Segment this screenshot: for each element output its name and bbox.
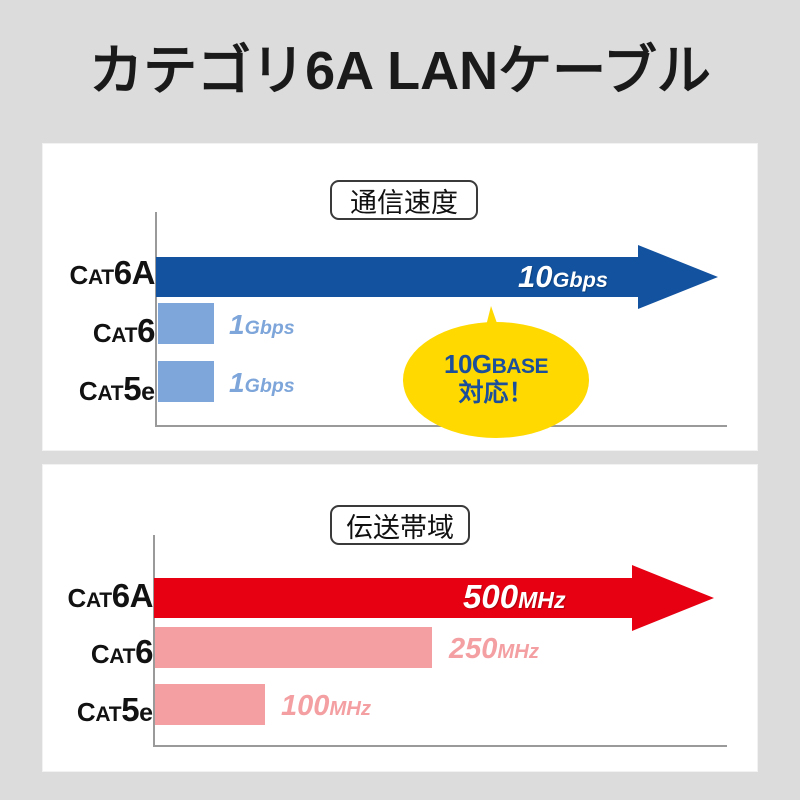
category-label-cat5e: CAT5e	[55, 372, 155, 405]
category-label-cat6a: CAT6A	[53, 579, 153, 612]
value-label-cat5e-bandwidth: 100MHz	[281, 692, 371, 721]
category-label-cat5e-suffix: e	[141, 378, 155, 406]
category-label-cat5e-number: 5	[123, 370, 141, 407]
panel-communication-speed: 通信速度 CAT6A CAT6 CAT5e 10Gbps 1Gbps 1G	[43, 144, 757, 450]
panel-transmission-bandwidth: 伝送帯域 CAT6A CAT6 CAT5e 500MHz 250MHz 1	[43, 465, 757, 771]
callout-10gbase: 10GBASE 対応！	[403, 306, 589, 438]
bar-cat5e-speed	[158, 361, 214, 402]
value-label-cat5e-speed: 1Gbps	[229, 369, 295, 397]
chart-transmission-bandwidth: 伝送帯域 CAT6A CAT6 CAT5e 500MHz 250MHz 1	[43, 465, 757, 771]
category-label-cat5e-suffix: e	[139, 699, 153, 727]
category-label-cat6a-suffix: A	[130, 577, 153, 614]
bar-cat5e-bandwidth	[155, 684, 265, 725]
callout-text: 10GBASE 対応！	[403, 350, 589, 407]
category-label-cat6-number: 6	[135, 633, 153, 670]
chart-title-badge-bandwidth-label: 伝送帯域	[346, 506, 454, 545]
value-label-cat6a-speed: 10Gbps	[518, 261, 608, 292]
category-label-cat6: CAT6	[53, 635, 153, 668]
chart-y-axis	[155, 212, 157, 425]
chart-title-badge-speed: 通信速度	[330, 180, 478, 220]
category-label-cat5e-number: 5	[121, 691, 139, 728]
chart-communication-speed: 通信速度 CAT6A CAT6 CAT5e 10Gbps 1Gbps 1G	[43, 144, 757, 450]
chart-x-axis	[153, 745, 727, 747]
callout-line-1: 10GBASE	[403, 350, 589, 379]
category-label-cat6a-number: 6	[114, 254, 132, 291]
bar-cat6-bandwidth	[155, 627, 432, 668]
chart-title-badge-speed-label: 通信速度	[350, 181, 458, 220]
bar-cat6a-bandwidth	[154, 565, 714, 631]
category-label-cat6: CAT6	[55, 314, 155, 347]
category-label-cat5e: CAT5e	[53, 693, 153, 726]
bar-cat6a-speed	[156, 245, 718, 309]
page-title: カテゴリ6A LANケーブル	[0, 44, 800, 98]
category-label-cat6a-suffix: A	[132, 254, 155, 291]
category-label-cat6a: CAT6A	[55, 256, 155, 289]
category-label-cat6-number: 6	[137, 312, 155, 349]
callout-line-2: 対応！	[403, 379, 589, 407]
value-label-cat6-speed: 1Gbps	[229, 311, 295, 339]
value-label-cat6-bandwidth: 250MHz	[449, 635, 539, 664]
bar-cat6-speed	[158, 303, 214, 344]
value-label-cat6a-bandwidth: 500MHz	[463, 580, 566, 613]
category-label-cat6a-number: 6	[112, 577, 130, 614]
chart-title-badge-bandwidth: 伝送帯域	[330, 505, 470, 545]
